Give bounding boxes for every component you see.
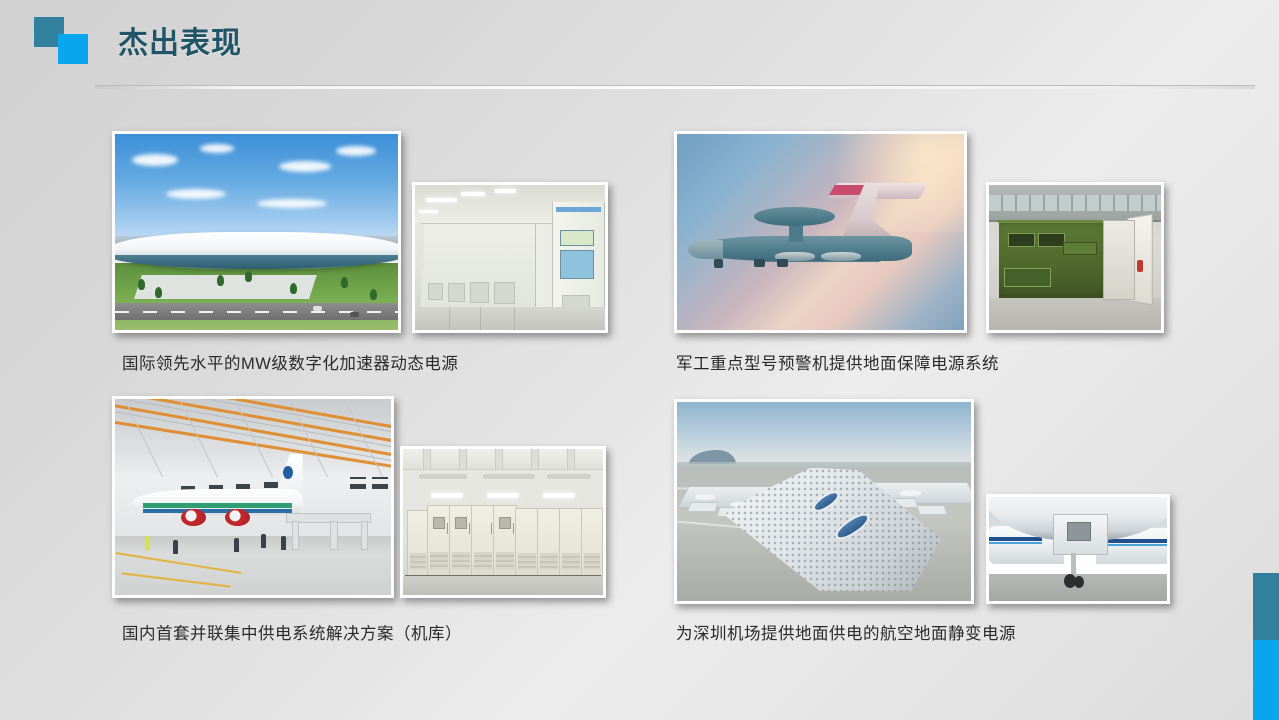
shelter-panel xyxy=(1038,233,1065,247)
gantry-leg xyxy=(292,521,300,550)
power-cabinet xyxy=(581,508,603,576)
cabinet-grille xyxy=(584,553,600,570)
floor xyxy=(403,576,603,595)
ceiling-beam xyxy=(495,449,503,469)
landing-gear-icon xyxy=(714,259,723,268)
cabinet-grille xyxy=(430,552,448,570)
engine-icon xyxy=(821,252,861,262)
slide-header: 杰出表现 xyxy=(0,0,1279,92)
power-cabinet xyxy=(515,508,539,576)
wall-window xyxy=(350,484,367,489)
power-connector-hatch xyxy=(1067,522,1090,541)
wall-window xyxy=(372,484,389,489)
worker-icon xyxy=(261,534,266,548)
ventilation-duct xyxy=(483,474,535,479)
ceiling-beam xyxy=(531,449,539,469)
header-divider xyxy=(95,85,1255,89)
photo-accelerator-facility-building xyxy=(112,131,401,333)
fire-extinguisher-icon xyxy=(1137,260,1143,272)
ceiling-light-icon xyxy=(461,192,486,195)
shelter-doorway xyxy=(1103,220,1136,300)
shelter-connector-bay xyxy=(1004,268,1051,287)
road xyxy=(115,303,398,321)
oval-building xyxy=(115,232,398,269)
cabinet-grille xyxy=(562,553,580,570)
ceiling-light-icon xyxy=(487,493,519,498)
shelter-panel xyxy=(1008,233,1035,247)
gantry-leg xyxy=(330,521,338,550)
ceiling-beam xyxy=(459,449,467,469)
ventilation-duct xyxy=(419,474,467,479)
ceiling-beam xyxy=(423,449,431,469)
caption-shenzhen-airport: 为深圳机场提供地面供电的航空地面静变电源 xyxy=(676,620,1016,644)
cabinet-vent xyxy=(494,282,514,304)
power-cabinet xyxy=(471,505,495,576)
floor-tile-line xyxy=(514,307,515,330)
edge-accent-top xyxy=(1253,573,1279,640)
cloud-icon xyxy=(166,189,226,199)
ceiling-light-icon xyxy=(431,493,463,498)
cabinet-vent xyxy=(470,282,489,302)
ventilation-duct xyxy=(547,474,591,479)
worker-icon xyxy=(281,536,286,550)
caption-accelerator: 国际领先水平的MW级数字化加速器动态电源 xyxy=(122,350,458,374)
worker-icon xyxy=(145,536,150,550)
gantry-leg xyxy=(361,521,369,550)
power-cabinet xyxy=(559,508,583,576)
ceiling-light-icon xyxy=(426,198,456,202)
photo-awacs-early-warning-aircraft xyxy=(674,131,967,333)
power-cabinet xyxy=(493,505,517,576)
ceiling-light-icon xyxy=(419,210,438,213)
landing-gear-icon xyxy=(777,259,788,267)
tree-icon xyxy=(138,279,145,290)
canopy-glazing xyxy=(989,195,1161,211)
ground xyxy=(989,298,1161,330)
caption-hangar: 国内首套并联集中供电系统解决方案（机库） xyxy=(122,620,462,644)
hangar-roof xyxy=(115,399,391,477)
shelter-hatch xyxy=(1063,242,1097,255)
page-title: 杰出表现 xyxy=(118,18,242,62)
cabinet-vent xyxy=(428,283,443,300)
photo-shenzhen-airport-terminal xyxy=(674,399,974,604)
power-cabinet xyxy=(427,505,451,576)
floor-tile-line xyxy=(449,307,450,330)
photo-electrical-cabinet-room xyxy=(412,182,608,333)
hangar-floor xyxy=(115,536,391,595)
photo-aircraft-maintenance-hangar xyxy=(112,396,394,598)
edge-accent-bar xyxy=(1253,573,1279,720)
wall-window xyxy=(264,482,278,488)
tree-icon xyxy=(155,287,162,298)
power-cabinet xyxy=(537,508,561,576)
nose xyxy=(688,240,722,260)
photo-green-military-power-shelter xyxy=(986,182,1164,333)
cabinet-meter-panel xyxy=(455,517,467,529)
livery-stripe-dark xyxy=(989,537,1042,541)
worker-icon xyxy=(173,540,178,554)
livery-stripe-dark xyxy=(1106,539,1167,543)
car-icon xyxy=(313,306,322,311)
cabinet-grille xyxy=(540,553,558,570)
tree-icon xyxy=(290,283,297,294)
cabinet-label xyxy=(556,207,601,212)
livery-stripe-blue xyxy=(143,509,292,513)
cabinet-grille xyxy=(410,553,426,570)
cabinet-meter-panel xyxy=(499,517,511,529)
cloud-icon xyxy=(132,154,178,166)
livery-stripe-green xyxy=(143,503,292,508)
tree-icon xyxy=(341,277,348,288)
landing-gear-icon xyxy=(754,259,765,267)
cabinet-grille xyxy=(518,553,536,570)
landing-gear-strut xyxy=(1071,553,1076,576)
cloud-icon xyxy=(257,199,327,208)
radar-dome-icon xyxy=(754,207,834,227)
floor-marking xyxy=(121,572,231,587)
power-cabinet xyxy=(449,505,473,576)
jet-bridge xyxy=(687,502,719,512)
caption-awacs: 军工重点型号预警机提供地面保障电源系统 xyxy=(676,350,999,374)
power-cabinet xyxy=(407,510,429,576)
cabinet-grille xyxy=(496,552,514,570)
cabinet-grille xyxy=(474,552,492,570)
cabinet-indicator-panel xyxy=(560,230,594,246)
parked-aircraft xyxy=(900,490,921,496)
ceiling-light-icon xyxy=(543,493,575,498)
ceiling-beam xyxy=(567,449,575,469)
livery-stripe-light xyxy=(989,542,1042,545)
tree-icon xyxy=(370,289,377,300)
floor xyxy=(415,307,605,330)
parked-aircraft xyxy=(695,494,716,500)
floor-tile-line xyxy=(480,307,481,330)
tree-icon xyxy=(217,275,224,286)
cabinet-vent xyxy=(448,283,465,302)
photo-aircraft-ground-power-unit xyxy=(986,494,1170,604)
livery-stripe-light xyxy=(1106,544,1167,547)
tree-icon xyxy=(245,271,252,282)
ceiling-light-icon xyxy=(495,189,516,192)
cloud-icon xyxy=(200,144,234,153)
cabinet-meter-panel xyxy=(433,517,445,529)
car-icon xyxy=(350,312,359,317)
photo-parallel-power-cabinet-room xyxy=(400,446,606,598)
logo-square-light-icon xyxy=(58,34,88,64)
cloud-icon xyxy=(336,146,376,156)
worker-icon xyxy=(234,538,239,552)
cabinet-grille xyxy=(452,552,470,570)
edge-accent-bottom xyxy=(1253,640,1279,720)
shelter-body xyxy=(999,223,1113,298)
floor-marking xyxy=(116,552,242,574)
jet-bridge xyxy=(916,505,948,515)
cabinet-touch-screen xyxy=(560,250,594,279)
